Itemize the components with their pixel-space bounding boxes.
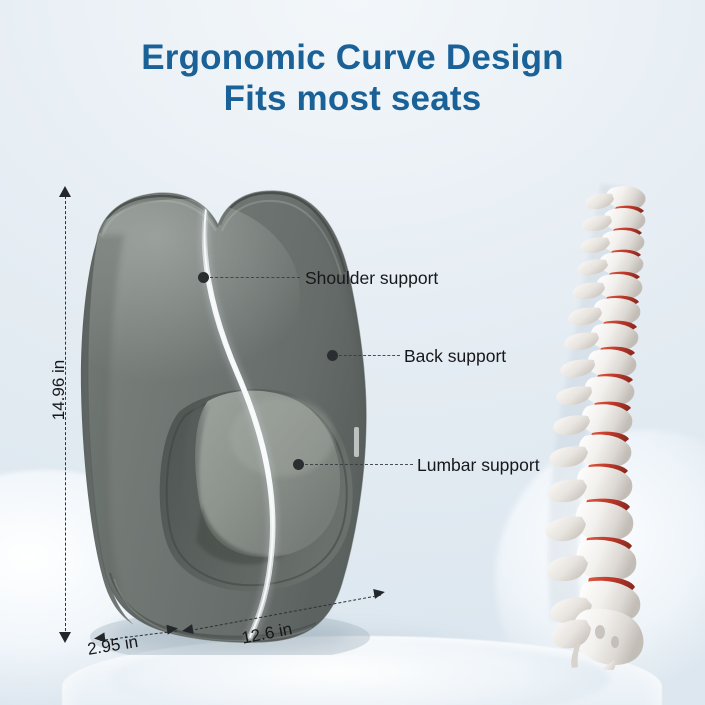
width-arrow-left [181,624,194,636]
infographic-canvas: Ergonomic Curve Design Fits most seats [0,0,705,705]
callout-leader-shoulder [210,277,300,278]
vertebra [585,186,645,210]
vertebra [564,323,638,350]
height-arrow-top [59,186,71,197]
vertebra [580,230,644,254]
depth-arrow-right [166,623,178,634]
title-line-2: Fits most seats [0,79,705,120]
height-arrow-bottom [59,632,71,643]
vertebra [582,208,645,232]
cushion-side-tag [354,427,359,457]
callout-leader-back [339,355,400,356]
callout-label-back: Back support [404,346,506,367]
title-line-1: Ergonomic Curve Design [0,38,705,79]
callout-label-lumbar: Lumbar support [417,455,540,476]
callout-label-shoulder: Shoulder support [305,268,438,289]
callout-leader-lumbar [305,464,413,465]
callout-dot-back [327,350,338,361]
vertebra [577,252,643,276]
vertebra [572,274,642,300]
callout-dot-shoulder [198,272,209,283]
vertebra [568,298,640,325]
spine-illustration [520,180,690,670]
height-dimension-label: 14.96 in [49,330,69,450]
width-arrow-right [373,587,386,599]
page-title: Ergonomic Curve Design Fits most seats [0,38,705,119]
callout-dot-lumbar [293,459,304,470]
lumbar-cushion-illustration [60,175,440,655]
